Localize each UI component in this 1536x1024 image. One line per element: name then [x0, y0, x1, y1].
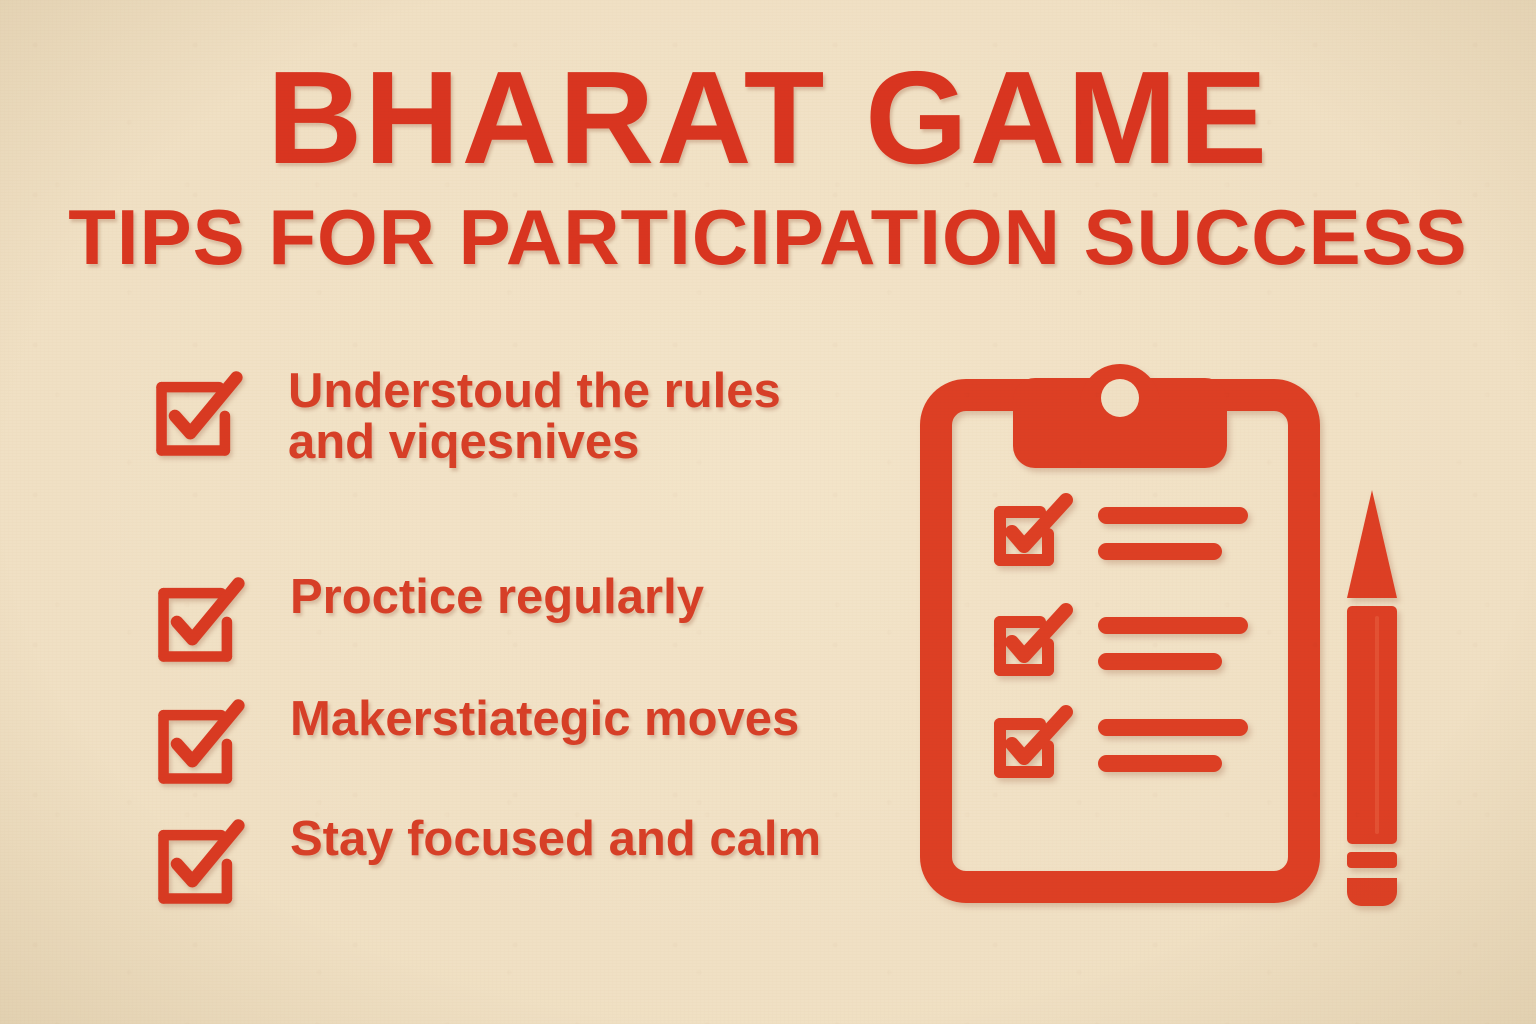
clipboard-icon — [920, 352, 1320, 904]
pencil-eraser — [1347, 878, 1397, 906]
list-item[interactable]: Makerstiategic moves — [152, 694, 799, 790]
checkbox-checked-icon[interactable] — [152, 814, 248, 910]
list-item-label: Stay focused and calm — [248, 814, 821, 865]
list-item[interactable]: Stay focused and calm — [152, 814, 821, 910]
list-item-label: Makerstiategic moves — [248, 694, 799, 745]
clipboard-clip — [1013, 364, 1227, 468]
clipboard-row — [1000, 712, 1248, 772]
page-title: BHARAT GAME — [0, 52, 1536, 184]
poster-canvas: BHARAT GAME TIPS FOR PARTICIPATION SUCCE… — [0, 0, 1536, 1024]
clipboard-line-short — [1098, 543, 1222, 560]
clipboard-line-long — [1098, 617, 1248, 634]
page-subtitle: TIPS FOR PARTICIPATION SUCCESS — [0, 198, 1536, 276]
clipboard-line-short — [1098, 755, 1222, 772]
pencil-icon — [1336, 486, 1408, 902]
list-item-label: Proctice regularly — [248, 572, 704, 623]
clipboard-row — [1000, 500, 1248, 560]
checkbox-checked-icon[interactable] — [152, 572, 248, 668]
checkbox-checked-icon — [1000, 712, 1066, 772]
pencil-ferrule — [1347, 852, 1397, 868]
pencil-tip — [1347, 490, 1397, 598]
list-item-label: Understoud the rules and viqesnives — [246, 366, 781, 468]
pencil-body — [1347, 606, 1397, 844]
list-item[interactable]: Understoud the rules and viqesnives — [150, 366, 781, 468]
list-item[interactable]: Proctice regularly — [152, 572, 704, 668]
clipboard-board — [936, 395, 1304, 887]
checkbox-checked-icon[interactable] — [150, 366, 246, 462]
checkbox-checked-icon — [1000, 610, 1066, 670]
checkbox-checked-icon[interactable] — [152, 694, 248, 790]
clipboard-line-long — [1098, 507, 1248, 524]
clipboard-line-short — [1098, 653, 1222, 670]
pencil-body-stripe — [1375, 616, 1379, 834]
checkbox-checked-icon — [1000, 500, 1066, 560]
clipboard-row — [1000, 610, 1248, 670]
clipboard-line-long — [1098, 719, 1248, 736]
